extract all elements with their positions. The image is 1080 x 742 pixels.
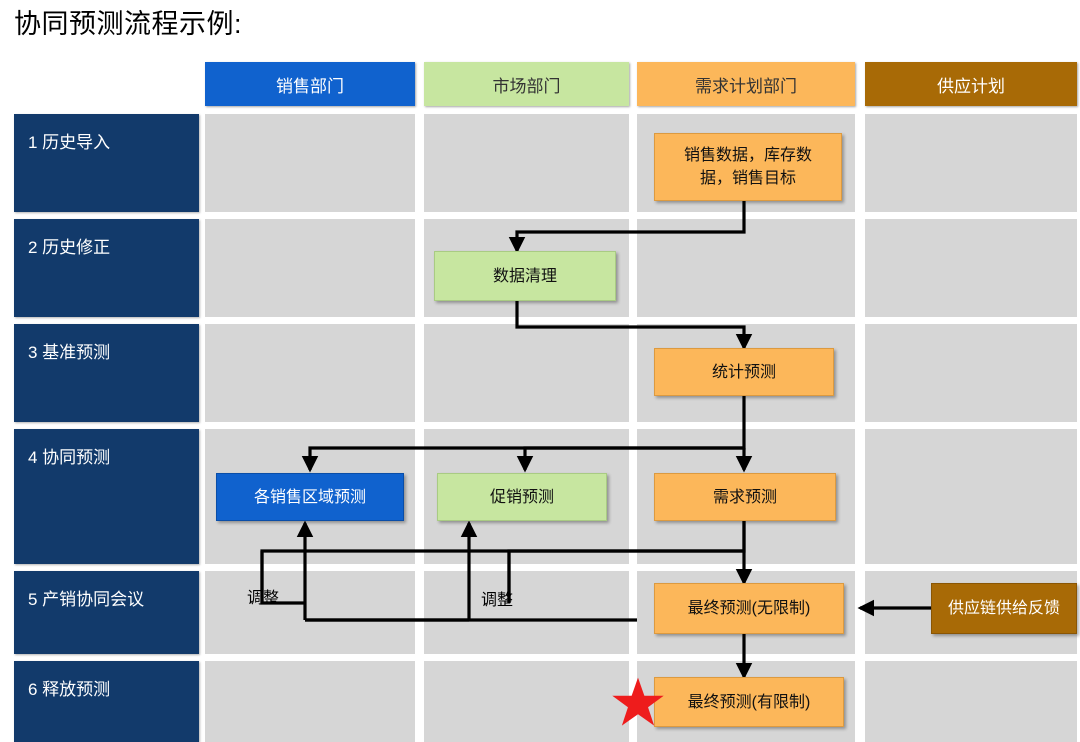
stage-header-5-label: 5 产销协同会议: [28, 590, 144, 609]
stage-header-3: 3 基准预测: [14, 324, 199, 422]
node-final-forecast-unconstrained[interactable]: 最终预测(无限制): [654, 583, 844, 634]
node-n7-label: 最终预测(无限制): [688, 597, 811, 620]
lane-cell-sales-5: [205, 571, 415, 654]
node-statistical-forecast[interactable]: 统计预测: [654, 348, 834, 396]
lane-cell-sales-1: [205, 114, 415, 212]
stage-header-2: 2 历史修正: [14, 219, 199, 317]
annotation-adjust-market: 调整: [481, 586, 513, 610]
stage-header-5: 5 产销协同会议: [14, 571, 199, 654]
flowchart-canvas: 协同预测流程示例: 销售部门 市场部门 需求计划部门 供应计划 1 历史导入 2…: [0, 0, 1080, 742]
node-n9-label: 最终预测(有限制): [688, 691, 811, 714]
node-final-forecast-constrained[interactable]: 最终预测(有限制): [654, 677, 844, 727]
lane-cell-supply-6: [865, 661, 1077, 742]
node-n6-label: 需求预测: [713, 486, 777, 509]
node-n1-line2: 据，销售目标: [700, 167, 796, 190]
lane-cell-sales-3: [205, 324, 415, 422]
column-header-sales-label: 销售部门: [276, 72, 344, 97]
lane-cell-supply-4: [865, 429, 1077, 564]
lane-cell-sales-2: [205, 219, 415, 317]
column-header-demand-label: 需求计划部门: [695, 72, 797, 97]
stage-header-1: 1 历史导入: [14, 114, 199, 212]
lane-cell-market-5: [424, 571, 629, 654]
stage-header-2-label: 2 历史修正: [28, 238, 110, 257]
node-data-cleansing[interactable]: 数据清理: [434, 251, 616, 301]
stage-header-3-label: 3 基准预测: [28, 343, 110, 362]
node-supply-chain-feedback[interactable]: 供应链供给反馈: [931, 583, 1077, 634]
node-n4-label: 各销售区域预测: [254, 486, 366, 509]
node-n1-line1: 销售数据，库存数: [684, 144, 812, 167]
stage-header-6: 6 释放预测: [14, 661, 199, 742]
annotation-adjust-sales: 调整: [247, 584, 279, 608]
column-header-market: 市场部门: [424, 62, 629, 106]
column-header-supply: 供应计划: [865, 62, 1077, 106]
lane-cell-sales-6: [205, 661, 415, 742]
lane-cell-market-3: [424, 324, 629, 422]
node-n5-label: 促销预测: [490, 486, 554, 509]
stage-header-4: 4 协同预测: [14, 429, 199, 564]
lane-cell-demand-2: [637, 219, 855, 317]
page-title: 协同预测流程示例:: [14, 8, 242, 40]
node-n3-label: 统计预测: [712, 361, 776, 384]
lane-cell-market-6: [424, 661, 629, 742]
column-header-sales: 销售部门: [205, 62, 415, 106]
node-historical-data-import[interactable]: 销售数据，库存数 据，销售目标: [654, 133, 842, 201]
lane-cell-supply-3: [865, 324, 1077, 422]
column-header-demand: 需求计划部门: [637, 62, 855, 106]
node-promotion-forecast[interactable]: 促销预测: [437, 473, 607, 521]
lane-cell-market-1: [424, 114, 629, 212]
node-demand-forecast[interactable]: 需求预测: [654, 473, 836, 521]
node-n8-label: 供应链供给反馈: [948, 597, 1060, 620]
node-n2-label: 数据清理: [493, 265, 557, 288]
node-regional-sales-forecast[interactable]: 各销售区域预测: [216, 473, 404, 521]
column-header-market-label: 市场部门: [493, 72, 561, 97]
lane-cell-supply-1: [865, 114, 1077, 212]
stage-header-1-label: 1 历史导入: [28, 133, 110, 152]
stage-header-4-label: 4 协同预测: [28, 448, 110, 467]
highlight-star-icon: [611, 676, 665, 730]
stage-header-6-label: 6 释放预测: [28, 680, 110, 699]
column-header-supply-label: 供应计划: [937, 72, 1005, 97]
lane-cell-supply-2: [865, 219, 1077, 317]
